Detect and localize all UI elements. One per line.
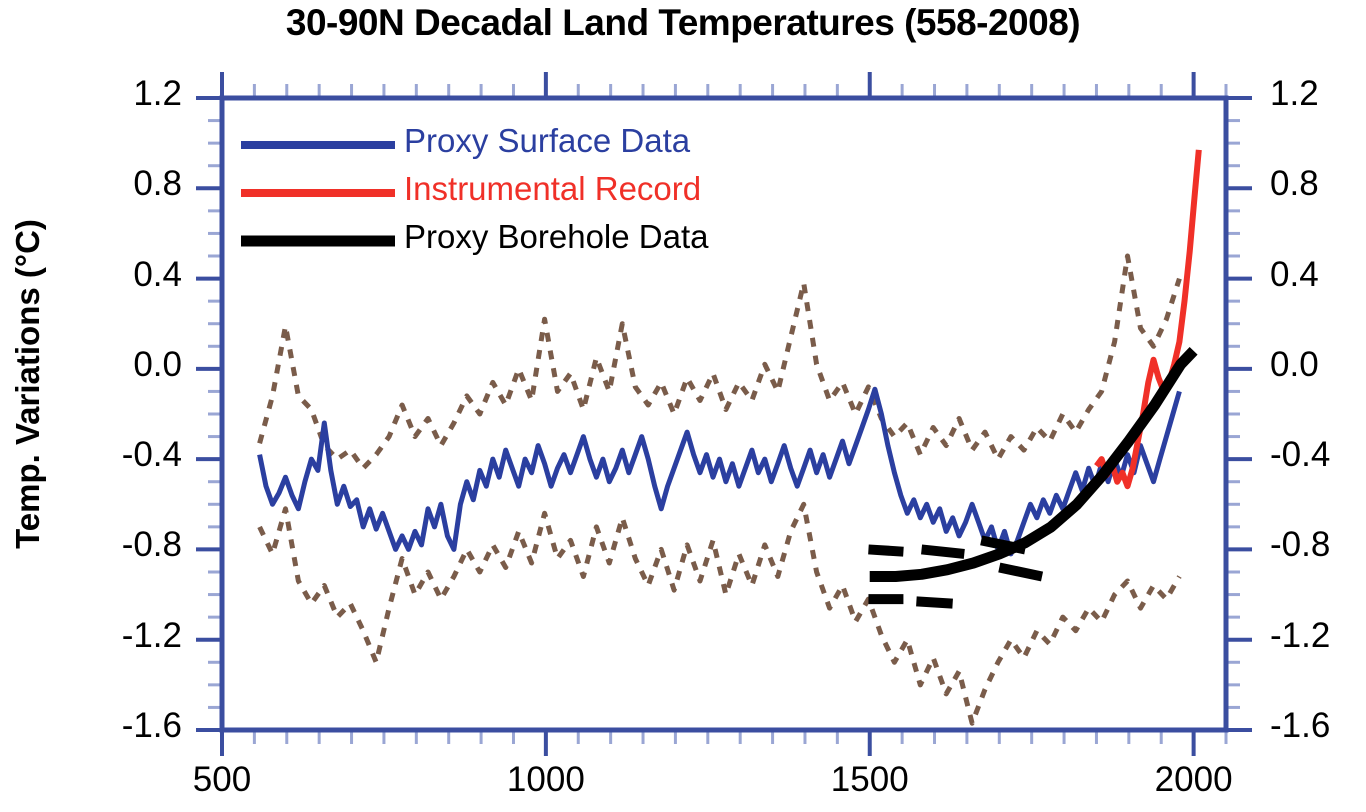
borehole-uncertainty-segment: [922, 549, 965, 554]
y-axis-label-left: -1.6: [30, 706, 182, 746]
y-axis-label-right: -1.6: [1270, 706, 1366, 746]
y-axis-label-right: -0.8: [1270, 525, 1366, 565]
series-line-proxy-surface-upper-uncertainty: [260, 256, 1180, 468]
borehole-uncertainty-segment: [916, 601, 952, 603]
series-line-instrumental-record: [1097, 150, 1199, 486]
y-axis-label-left: 0.4: [30, 255, 182, 295]
data-series-layer: [260, 150, 1199, 723]
y-axis-label-right: -1.2: [1270, 616, 1366, 656]
borehole-uncertainty-segment: [868, 549, 903, 551]
x-axis-label: 2000: [1094, 760, 1294, 800]
legend-swatches: [241, 145, 395, 241]
chart-canvas: 30-90N Decadal Land Temperatures (558-20…: [0, 0, 1366, 812]
x-axis-label: 500: [122, 760, 322, 800]
y-axis-label-left: 0.8: [30, 164, 182, 204]
y-axis-label-right: -0.4: [1270, 435, 1366, 475]
y-axis-label-right: 1.2: [1270, 74, 1366, 114]
y-axis-label-left: -0.4: [30, 435, 182, 475]
y-axis-label-left: 0.0: [30, 345, 182, 385]
legend-label-1: Instrumental Record: [404, 170, 701, 208]
y-axis-label-right: 0.0: [1270, 345, 1366, 385]
borehole-uncertainty-segment: [999, 567, 1042, 576]
y-axis-label-right: 0.8: [1270, 164, 1366, 204]
y-axis-label-right: 0.4: [1270, 255, 1366, 295]
legend-label-2: Proxy Borehole Data: [404, 218, 709, 256]
y-axis-label-left: 1.2: [30, 74, 182, 114]
x-axis-label: 1500: [770, 760, 970, 800]
x-axis-label: 1000: [446, 760, 646, 800]
legend-label-0: Proxy Surface Data: [404, 122, 690, 160]
y-axis-label-left: -0.8: [30, 525, 182, 565]
y-axis-label-left: -1.2: [30, 616, 182, 656]
axis-ticks: [196, 72, 1252, 756]
